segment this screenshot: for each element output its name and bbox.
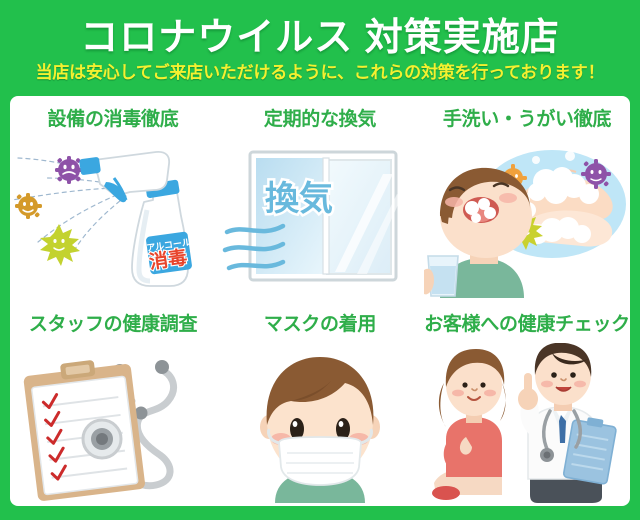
poster-root: コロナウイルス 対策実施店 当店は安心してご来店いただけるように、これらの対策を… [0,0,640,520]
measures-grid: 設備の消毒徹底 [10,96,630,506]
content-panel: 設備の消毒徹底 [10,96,630,506]
person-gargling [424,168,532,298]
page-subtitle: 当店は安心してご来店いただけるように、これらの対策を行っております！ [0,62,640,84]
measure-label-mask: マスクの着用 [217,313,423,337]
clipboard [22,355,146,501]
window-icon: 換気 [217,138,423,298]
measure-label-ventilation: 定期的な換気 [217,108,423,132]
measure-card-ventilation: 定期的な換気 [217,96,423,301]
face-mask-icon [217,343,423,503]
spray-bottle-icon: アルコール 消毒 [10,138,216,298]
stethoscope-eartip-right [155,360,169,374]
window-text: 換気 [265,180,333,218]
doctor [518,343,617,503]
measure-label-customer-health-check: お客様への健康チェック [424,313,630,337]
poster-header: コロナウイルス 対策実施店 当店は安心してご来店いただけるように、これらの対策を… [0,0,640,96]
patient [432,349,506,500]
measure-card-customer-health-check: お客様への健康チェック [424,301,630,506]
clipboard-stethoscope-icon [10,343,216,503]
water-glass [424,256,458,296]
handwashing-icon [424,138,630,298]
virus-purple [55,156,83,184]
measure-card-staff-health: スタッフの健康調査 [10,301,216,506]
doctor-patient-icon [424,343,630,503]
measure-label-handwash: 手洗い・うがい徹底 [424,108,630,132]
measure-card-disinfection: 設備の消毒徹底 [10,96,216,301]
measure-label-staff-health: スタッフの健康調査 [10,313,216,337]
measure-card-mask: マスクの着用 [217,301,423,506]
virus-orange [15,193,42,219]
page-title: コロナウイルス 対策実施店 [0,16,640,60]
measure-label-disinfection: 設備の消毒徹底 [10,108,216,132]
bottle-label: アルコール 消毒 [146,231,193,274]
measure-card-handwash: 手洗い・うがい徹底 [424,96,630,301]
stethoscope-chestpiece [83,420,121,458]
spray-bottle-body: アルコール 消毒 [79,152,192,286]
virus-green [40,224,80,266]
doctor-pointing-hand [518,373,538,410]
